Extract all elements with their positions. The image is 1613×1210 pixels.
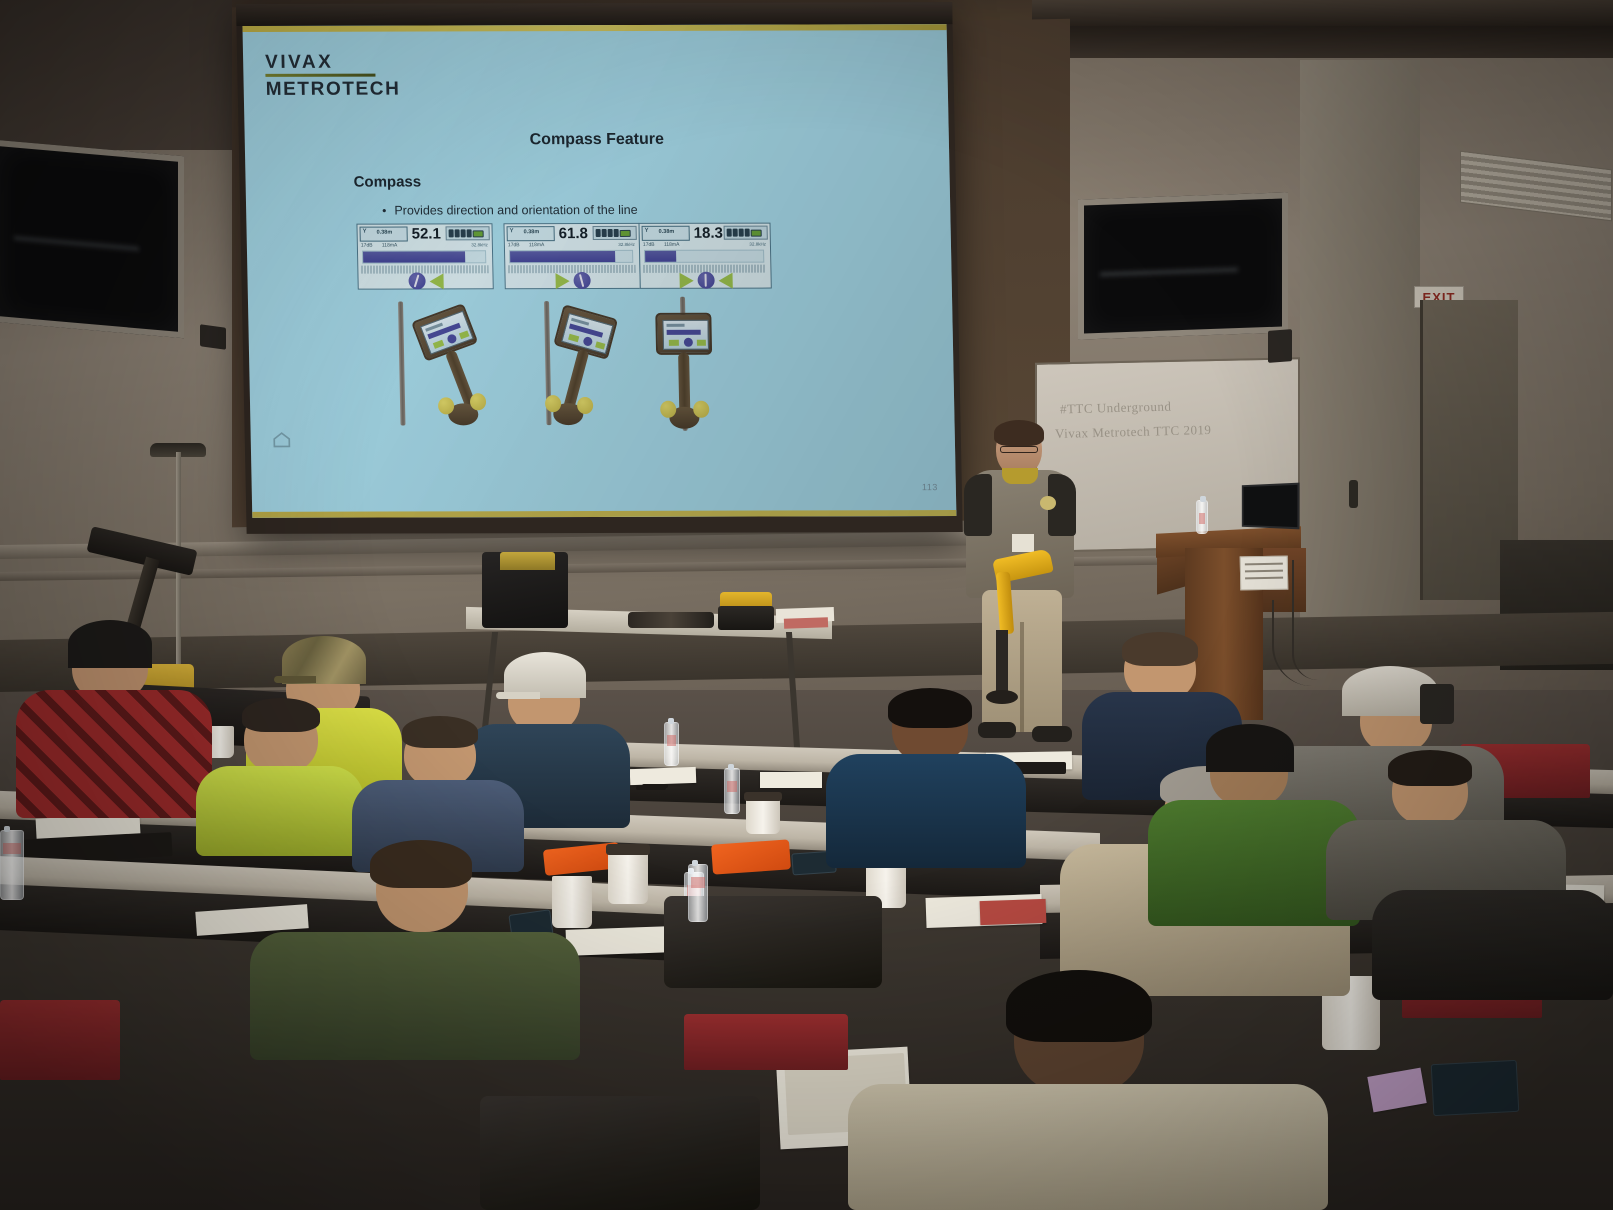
cap-brim [496, 692, 540, 699]
brand-divider [265, 74, 375, 77]
hand-tools [628, 612, 714, 628]
compass-dial [408, 272, 425, 289]
depth-value: 0.38m [377, 229, 393, 235]
signal-icon [727, 229, 732, 237]
signal-bar-track [644, 250, 764, 263]
wand-arrow-left [669, 340, 679, 346]
wand-display [420, 311, 474, 355]
compass-row [505, 272, 639, 289]
battery-icon [751, 229, 762, 236]
wand-ball-right [470, 393, 486, 410]
wand-arrow-right [697, 340, 706, 346]
wand-compass-dial [446, 333, 458, 345]
frequency-value: 32.8kHz [471, 242, 488, 247]
attendee-hair [242, 698, 320, 732]
mode-depth-box: Y 0.38m [507, 226, 555, 241]
podium-water-bottle [1196, 500, 1208, 534]
black-cap [1206, 724, 1294, 772]
panel-header: Y 0.38m 17dB 118mA 52.1 32.8kHz [359, 226, 489, 243]
wand-ball-right [693, 401, 709, 418]
frequency-value: 32.8kHz [749, 242, 766, 247]
wand-ball-left [438, 397, 454, 414]
status-icon-row [724, 226, 768, 240]
wand-display [561, 313, 613, 354]
mode-label: Y [510, 228, 514, 234]
wall-speaker-left [200, 324, 226, 350]
monitor-glare [1100, 267, 1239, 277]
handout-paper [760, 772, 822, 788]
handout-paper [630, 767, 697, 785]
wand-head [655, 313, 712, 355]
wand-arrow-right [459, 330, 470, 339]
attendee-hair [402, 716, 478, 748]
current-value: 118mA [529, 242, 545, 248]
brand-vivax: VIVAX [265, 52, 334, 74]
mode-label: Y [363, 229, 367, 235]
compass-dial [573, 272, 590, 289]
guidance-arrow-right [555, 273, 569, 289]
water-bottle [664, 722, 679, 766]
attendee-14 [1372, 860, 1613, 1000]
coffee-cup-lid [744, 792, 782, 801]
attendee-7 [196, 696, 364, 856]
mode-label: Y [645, 228, 649, 234]
depth-icon [608, 229, 613, 237]
presenter-shoe-right [1032, 726, 1072, 742]
slide-title: Compass Feature [245, 130, 949, 150]
wand-compass-dial [582, 336, 593, 347]
wand-shaft [678, 353, 690, 415]
depth-value: 0.38m [659, 228, 675, 234]
guidance-arrow-right [679, 272, 693, 288]
attendee-12 [848, 960, 1328, 1210]
coffee-cup-lid [606, 844, 650, 855]
signal-reading: 52.1 [411, 225, 441, 242]
volume-icon [467, 229, 472, 237]
gain-value: 17dB [361, 243, 373, 249]
water-bottle [0, 830, 24, 900]
door-handle[interactable] [1349, 480, 1358, 508]
depth-value: 0.38m [524, 229, 540, 235]
attendee-torso [250, 932, 580, 1060]
handout-paper [566, 926, 673, 956]
antenna-icon [455, 229, 460, 237]
projection-screen: VIVAX METROTECH Compass Feature Compass … [236, 2, 963, 534]
compass-row [640, 272, 770, 289]
pen [636, 786, 666, 790]
current-value: 118mA [382, 243, 398, 249]
cap-back-panel [1420, 684, 1454, 724]
lectern-monitor[interactable] [1242, 483, 1300, 530]
antenna-icon [602, 229, 607, 237]
locator-display-panel-3: Y 0.38m 17dB 118mA 18.3 32.8kHz [638, 223, 771, 289]
slide-subtitle: Compass [353, 173, 421, 190]
compass-row [358, 272, 492, 289]
attendee-11 [250, 840, 580, 1060]
attendee-hair [1388, 750, 1472, 786]
wand-signal-bar [667, 330, 701, 335]
attendee-hair [370, 840, 472, 888]
presenter-jacket-shoulder-left [964, 474, 992, 536]
monitor-glare [14, 236, 139, 252]
slide-page-number: 113 [922, 482, 938, 492]
attendee-hair [1006, 970, 1152, 1042]
volume-icon [745, 229, 750, 237]
backpack [480, 1096, 760, 1210]
coffee-cup [746, 796, 780, 834]
slide-top-accent-bar [242, 24, 946, 32]
battery-icon [473, 230, 484, 237]
black-beanie [68, 620, 152, 668]
wand-arrow-left [568, 334, 579, 343]
held-locator-foot [996, 630, 1008, 696]
wall-monitor-right [1078, 192, 1288, 339]
coffee-cup [608, 848, 648, 904]
wand-ball-left [660, 401, 676, 418]
wand-compass-dial [684, 338, 693, 347]
wall-monitor-left [0, 140, 184, 339]
attendee-torso [826, 754, 1026, 868]
attendee-torso [16, 690, 212, 818]
cap-brim [274, 676, 316, 683]
screen-roller [236, 2, 953, 26]
mode-depth-box: Y 0.38m [359, 227, 407, 242]
guidance-arrow-left [718, 272, 732, 288]
signal-icon [596, 229, 601, 237]
wall-column-right [1300, 60, 1420, 620]
wall-speaker-right [1268, 329, 1292, 363]
wand-head [411, 303, 478, 362]
presenter-glasses [1000, 446, 1038, 453]
status-icon-row [446, 226, 490, 240]
water-bottle [724, 768, 740, 814]
red-handout [980, 899, 1047, 925]
attendee-torso [848, 1084, 1328, 1210]
depth-icon [739, 229, 744, 237]
battery-icon [620, 229, 631, 236]
buried-line-1 [398, 302, 405, 426]
panel-header: Y 0.38m 17dB 118mA 18.3 32.8kHz [642, 226, 768, 243]
gain-value: 17dB [508, 242, 520, 248]
slide-surface: VIVAX METROTECH Compass Feature Compass … [242, 24, 956, 518]
presenter-collar [1002, 468, 1038, 484]
water-bottle [688, 864, 708, 922]
signal-bar-track [362, 250, 486, 263]
status-icon-row [593, 226, 637, 240]
wand-arrow-right [595, 341, 605, 349]
transmitter-case [718, 606, 774, 630]
presenter-hair [994, 420, 1044, 446]
antenna-icon [733, 229, 738, 237]
panel-header: Y 0.38m 17dB 118mA 61.8 32.8kHz [507, 226, 637, 243]
wand-arrow-left [433, 340, 444, 349]
presenter-hand-paper [1012, 534, 1034, 552]
attendee-1 [16, 618, 212, 818]
attendee-torso [1372, 890, 1613, 1000]
wand-ball-right [577, 397, 593, 414]
volume-icon [614, 229, 619, 237]
attendee-hair [1122, 632, 1198, 666]
signal-reading: 61.8 [559, 225, 589, 242]
red-folder [784, 617, 828, 629]
equipment-bag-contents [500, 552, 555, 570]
chair [684, 1014, 848, 1070]
brand-metrotech: METROTECH [266, 79, 401, 101]
safety-vest [711, 839, 791, 874]
wand-display [662, 320, 709, 350]
mode-depth-box: Y 0.38m [642, 226, 690, 241]
signal-bar-fill [363, 251, 466, 262]
guidance-arrow-left [429, 273, 443, 289]
signal-bar-track [509, 250, 633, 263]
compass-dial [697, 272, 714, 289]
current-value: 118mA [664, 242, 680, 248]
wand-ball-left [545, 395, 561, 412]
frequency-value: 32.8kHz [618, 242, 635, 247]
presenter-logo-patch [1040, 496, 1056, 510]
depth-icon [461, 229, 466, 237]
wand-status-strip [667, 324, 685, 327]
slide-bullet: Provides direction and orientation of th… [382, 203, 638, 218]
signal-reading: 18.3 [694, 225, 724, 242]
home-icon[interactable] [271, 430, 293, 450]
chair [0, 1000, 120, 1080]
attendee-hair [888, 688, 972, 728]
signal-bar-fill [645, 251, 676, 262]
whiteboard-text-line1: #TTC Underground [1060, 399, 1172, 418]
smartphone [1431, 1060, 1520, 1116]
signal-bar-fill [510, 251, 615, 262]
locator-display-panel-2: Y 0.38m 17dB 118mA 61.8 32.8kHz [503, 223, 640, 289]
attendee-4 [826, 688, 1026, 868]
gain-value: 17dB [643, 242, 655, 248]
podium-sign [1240, 556, 1289, 591]
slide-bottom-accent-bar [252, 510, 956, 518]
signal-icon [449, 229, 454, 237]
locator-display-panel-1: Y 0.38m 17dB 118mA 52.1 32.8kHz [356, 223, 493, 289]
classroom-scene: #TTC Underground Vivax Metrotech TTC 201… [0, 0, 1613, 1210]
